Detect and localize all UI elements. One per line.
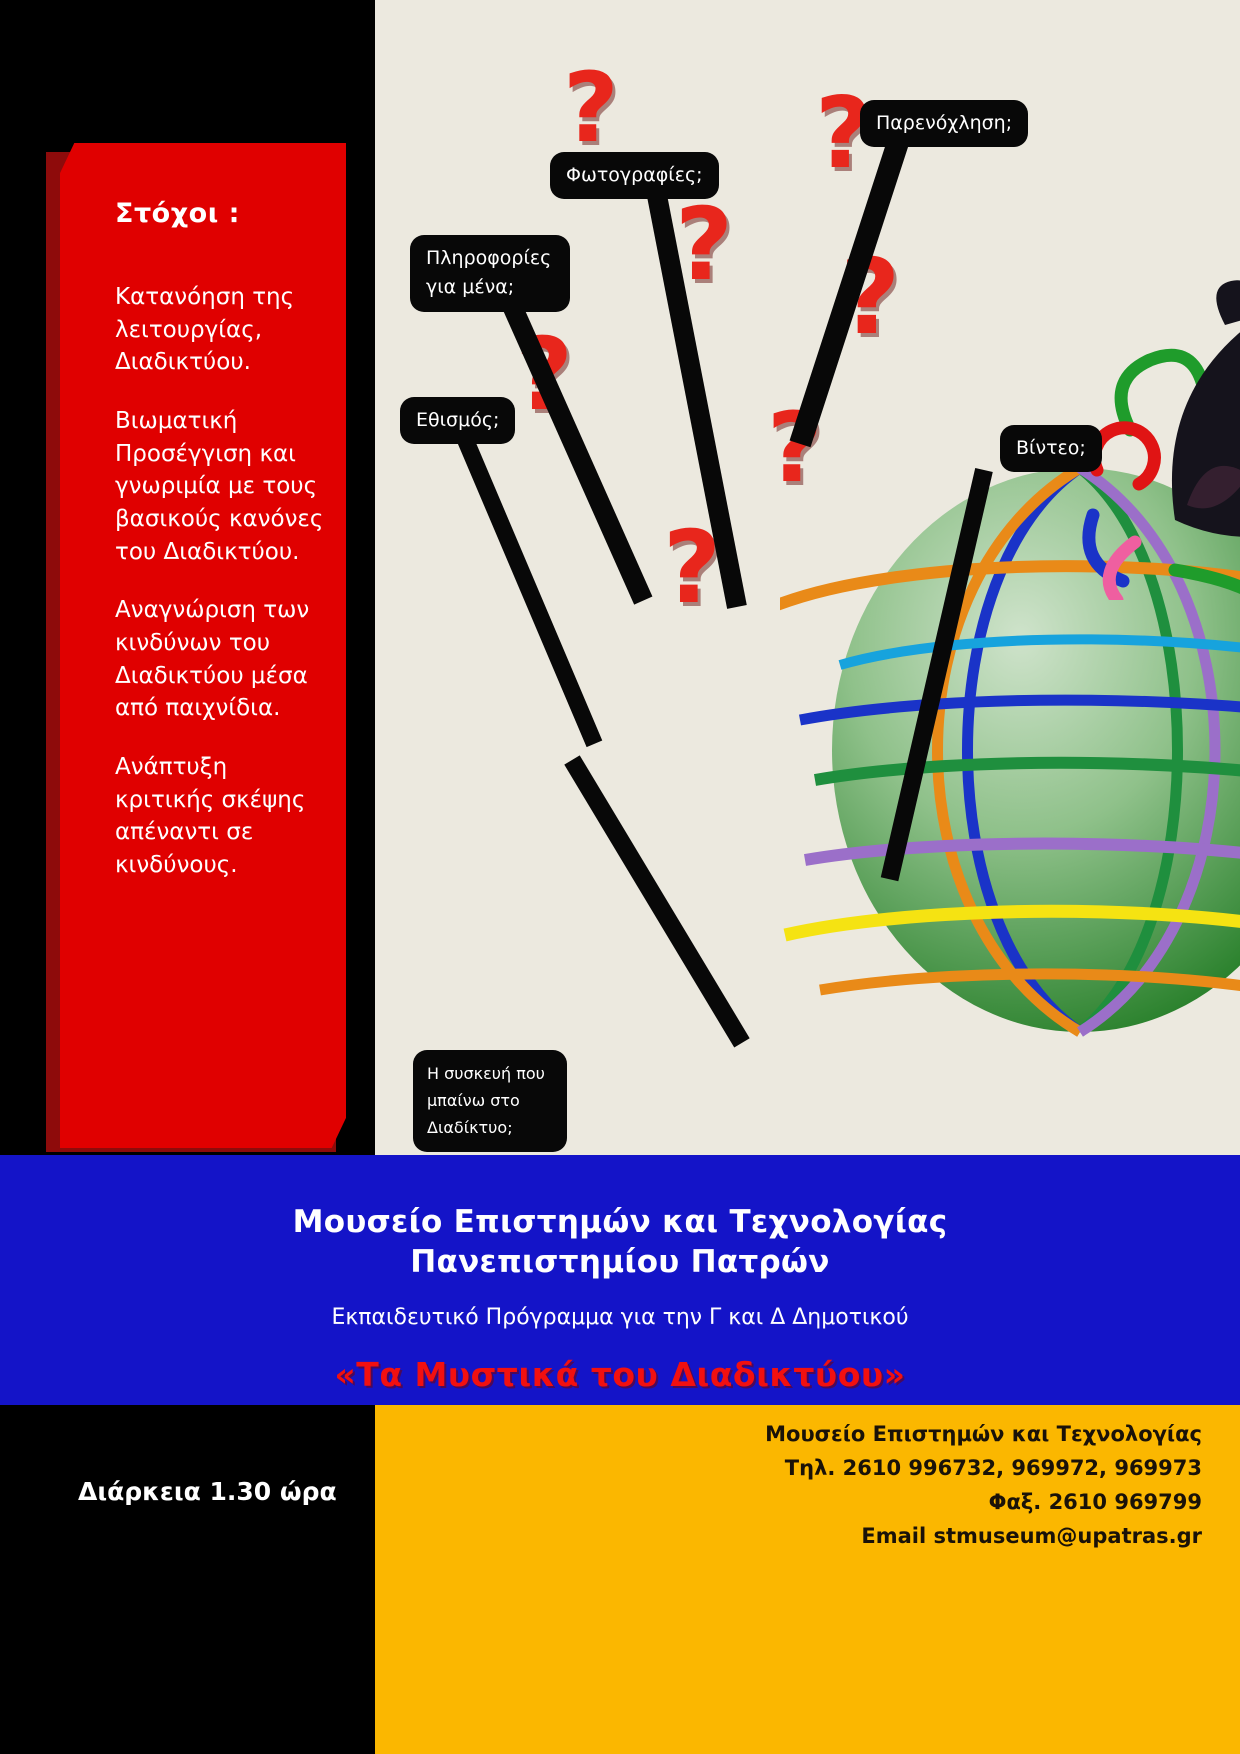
bubble-syskevi[interactable]: Η συσκευή που μπαίνω στο Διαδίκτυο; [413, 1050, 567, 1152]
museum-title-line2: Πανεπιστημίου Πατρών [180, 1243, 1060, 1283]
objective-item: Βιωματική Προσέγγιση και γνωριμία με του… [115, 405, 328, 568]
objectives-box: Στόχοι : Κατανόηση της λειτουργίας, Διαδ… [60, 143, 346, 1148]
bubble-parenochlisi[interactable]: Παρενόχληση; [860, 100, 1028, 147]
objective-item: Αναγνώριση των κινδύνων του Διαδικτύου μ… [115, 594, 328, 725]
contact-line-fax: Φαξ. 2610 969799 [765, 1485, 1202, 1519]
bubble-fotografies[interactable]: Φωτογραφίες; [550, 152, 719, 199]
museum-title: Μουσείο Επιστημών και Τεχνολογίας Πανεπι… [0, 1203, 1240, 1282]
contact-box: Μουσείο Επιστημών και Τεχνολογίας Τηλ. 2… [375, 1405, 1240, 1754]
museum-title-line1: Μουσείο Επιστημών και Τεχνολογίας [180, 1203, 1060, 1243]
bubble-vinteo[interactable]: Βίντεο; [1000, 425, 1102, 472]
contact-line-phone: Τηλ. 2610 996732, 969972, 969973 [765, 1451, 1202, 1485]
duration-label: Διάρκεια 1.30 ώρα [78, 1477, 337, 1506]
main-illustration-panel: ? ? ? ? ? ? ? Παρενόχληση; Φωτογραφίες; … [375, 0, 1240, 1155]
blue-banner: Μουσείο Επιστημών και Τεχνολογίας Πανεπι… [0, 1155, 1240, 1405]
objectives-title: Στόχοι : [115, 198, 328, 229]
program-title: «Τα Μυστικά του Διαδικτύου» [0, 1355, 1240, 1394]
objective-item: Ανάπτυξη κριτικής σκέψης απέναντι σε κιν… [115, 751, 328, 882]
bubble-plirofories[interactable]: Πληροφορίες για μένα; [410, 235, 570, 312]
contact-line-email[interactable]: Email stmuseum@upatras.gr [765, 1519, 1202, 1553]
bubble-ethismos[interactable]: Εθισμός; [400, 397, 515, 444]
program-subtitle: Εκπαιδευτικό Πρόγραμμα για την Γ και Δ Δ… [0, 1305, 1240, 1330]
poster-root: ? ? ? ? ? ? ? Παρενόχληση; Φωτογραφίες; … [0, 0, 1240, 1754]
objective-item: Κατανόηση της λειτουργίας, Διαδικτύου. [115, 281, 328, 379]
contact-line-museum: Μουσείο Επιστημών και Τεχνολογίας [765, 1417, 1202, 1451]
bubble-tail-syskevi [564, 755, 749, 1047]
contact-details: Μουσείο Επιστημών και Τεχνολογίας Τηλ. 2… [765, 1417, 1202, 1553]
question-mark-icon: ? [563, 60, 619, 156]
